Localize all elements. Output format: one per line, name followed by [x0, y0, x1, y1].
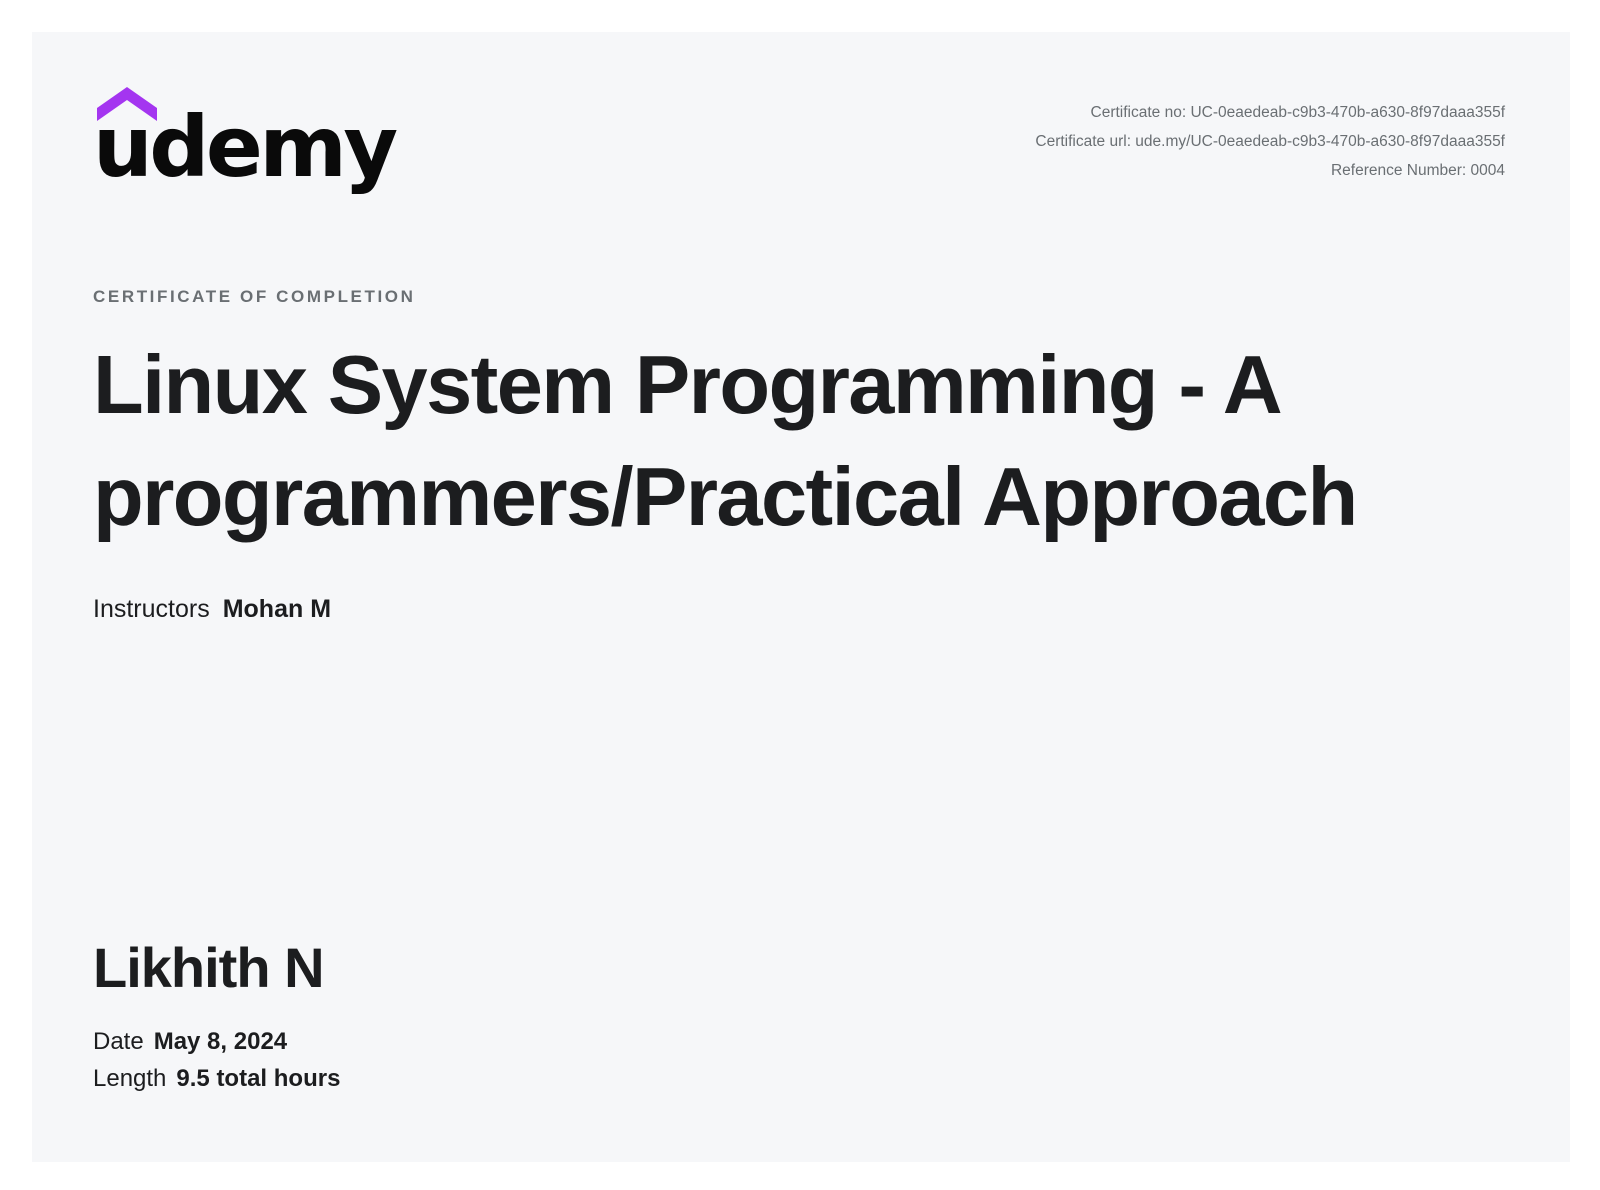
- date-row: DateMay 8, 2024: [93, 1023, 340, 1060]
- certificate-eyebrow: CERTIFICATE OF COMPLETION: [93, 287, 1509, 307]
- instructors-value: Mohan M: [223, 595, 331, 623]
- instructors-row: InstructorsMohan M: [93, 592, 1509, 627]
- recipient-name: Likhith N: [93, 932, 340, 1005]
- certificate-url-line[interactable]: Certificate url: ude.my/UC-0eaedeab-c9b3…: [1035, 127, 1505, 156]
- certificate-footer: Likhith N DateMay 8, 2024 Length9.5 tota…: [93, 932, 340, 1097]
- date-value: May 8, 2024: [154, 1028, 287, 1055]
- reference-number-line: Reference Number: 0004: [1035, 156, 1505, 185]
- certificate-body: CERTIFICATE OF COMPLETION Linux System P…: [93, 287, 1509, 627]
- course-title: Linux System Programming - A programmers…: [93, 329, 1493, 553]
- length-value: 9.5 total hours: [176, 1065, 340, 1092]
- instructors-label: Instructors: [93, 595, 210, 623]
- udemy-wordmark: udemy: [93, 105, 395, 189]
- certificate-card: udemy Certificate no: UC-0eaedeab-c9b3-4…: [32, 32, 1570, 1162]
- certificate-meta-block: Certificate no: UC-0eaedeab-c9b3-470b-a6…: [1035, 98, 1505, 185]
- certificate-header: udemy Certificate no: UC-0eaedeab-c9b3-4…: [32, 32, 1570, 202]
- certificate-number-line: Certificate no: UC-0eaedeab-c9b3-470b-a6…: [1035, 98, 1505, 127]
- length-row: Length9.5 total hours: [93, 1060, 340, 1097]
- length-label: Length: [93, 1065, 166, 1092]
- udemy-logo: udemy: [93, 87, 353, 192]
- date-label: Date: [93, 1028, 144, 1055]
